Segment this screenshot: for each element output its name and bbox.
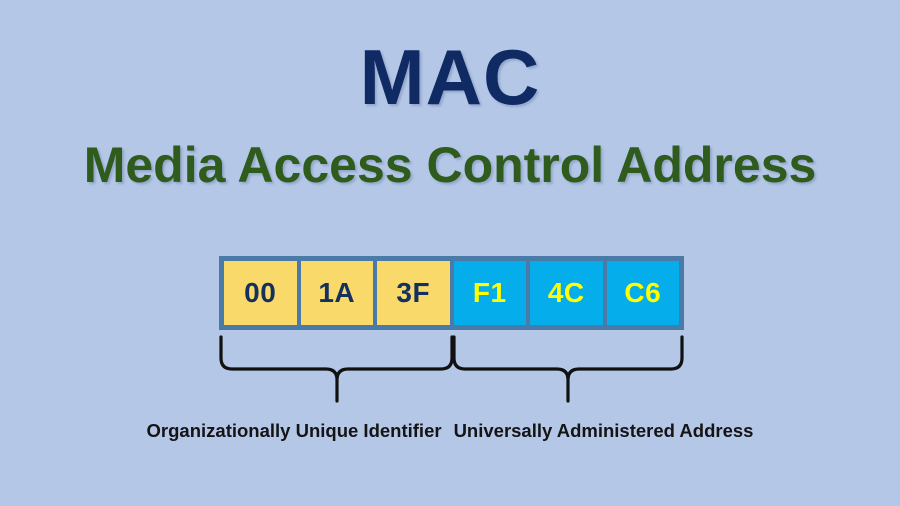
mac-octet-cell: F1: [452, 259, 529, 327]
oui-brace-icon: [221, 337, 452, 401]
brace-captions: Organizationally Unique Identifier Unive…: [0, 420, 900, 442]
oui-caption-label: Organizationally Unique Identifier: [147, 420, 448, 442]
page-title-expansion: Media Access Control Address: [0, 140, 900, 190]
uaa-brace-icon: [454, 337, 682, 401]
mac-octet-cell: 00: [222, 259, 299, 327]
diagram-canvas: MAC Media Access Control Address 00 1A 3…: [0, 0, 900, 506]
uaa-caption-label: Universally Administered Address: [448, 420, 754, 442]
mac-octet-cell: 3F: [375, 259, 452, 327]
mac-octet-cell: C6: [605, 259, 682, 327]
mac-octet-cell: 4C: [528, 259, 605, 327]
page-title-acronym: MAC: [0, 38, 900, 116]
mac-octet-cell: 1A: [299, 259, 376, 327]
mac-address-table: 00 1A 3F F1 4C C6: [219, 256, 684, 330]
